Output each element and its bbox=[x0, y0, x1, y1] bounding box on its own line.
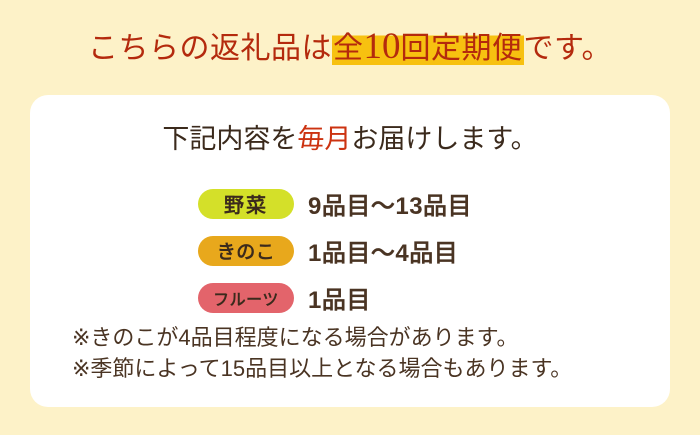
subheading-accent: 毎月 bbox=[297, 124, 351, 154]
note-line: ※きのこが4品目程度になる場合があります。 bbox=[72, 322, 652, 353]
category-badge-mushrooms: きのこ bbox=[198, 236, 294, 266]
notes-section: ※きのこが4品目程度になる場合があります。 ※季節によって15品目以上となる場合… bbox=[72, 322, 652, 384]
content-card: 下記内容を毎月お届けします。 野菜 9品目〜13品目 きのこ 1品目〜4品目 フ… bbox=[30, 95, 670, 407]
headline-highlight-post: 回定期便 bbox=[401, 32, 523, 65]
subheading-prefix: 下記内容を bbox=[162, 124, 297, 154]
headline-highlight-pre: 全 bbox=[333, 32, 364, 65]
category-badge-vegetables: 野菜 bbox=[198, 189, 294, 219]
headline-prefix: こちらの返礼品は bbox=[88, 32, 332, 65]
note-line: ※季節によって15品目以上となる場合もあります。 bbox=[72, 353, 652, 384]
list-item: 野菜 9品目〜13品目 bbox=[198, 180, 668, 227]
item-count-mushrooms: 1品目〜4品目 bbox=[308, 233, 458, 268]
subheading-suffix: お届けします。 bbox=[351, 124, 537, 154]
category-badge-fruits: フルーツ bbox=[198, 283, 294, 313]
list-item: きのこ 1品目〜4品目 bbox=[198, 227, 668, 274]
headline-highlight: 全10回定期便 bbox=[332, 32, 524, 65]
list-item: フルーツ 1品目 bbox=[198, 274, 668, 321]
contents-list: 野菜 9品目〜13品目 きのこ 1品目〜4品目 フルーツ 1品目 bbox=[198, 180, 668, 321]
headline-suffix: です。 bbox=[524, 32, 613, 65]
page-title: こちらの返礼品は全10回定期便です。 bbox=[0, 26, 700, 70]
item-count-vegetables: 9品目〜13品目 bbox=[308, 186, 472, 221]
item-count-fruits: 1品目 bbox=[308, 280, 371, 315]
card-subheading: 下記内容を毎月お届けします。 bbox=[30, 122, 670, 156]
headline-count: 10 bbox=[364, 26, 401, 67]
